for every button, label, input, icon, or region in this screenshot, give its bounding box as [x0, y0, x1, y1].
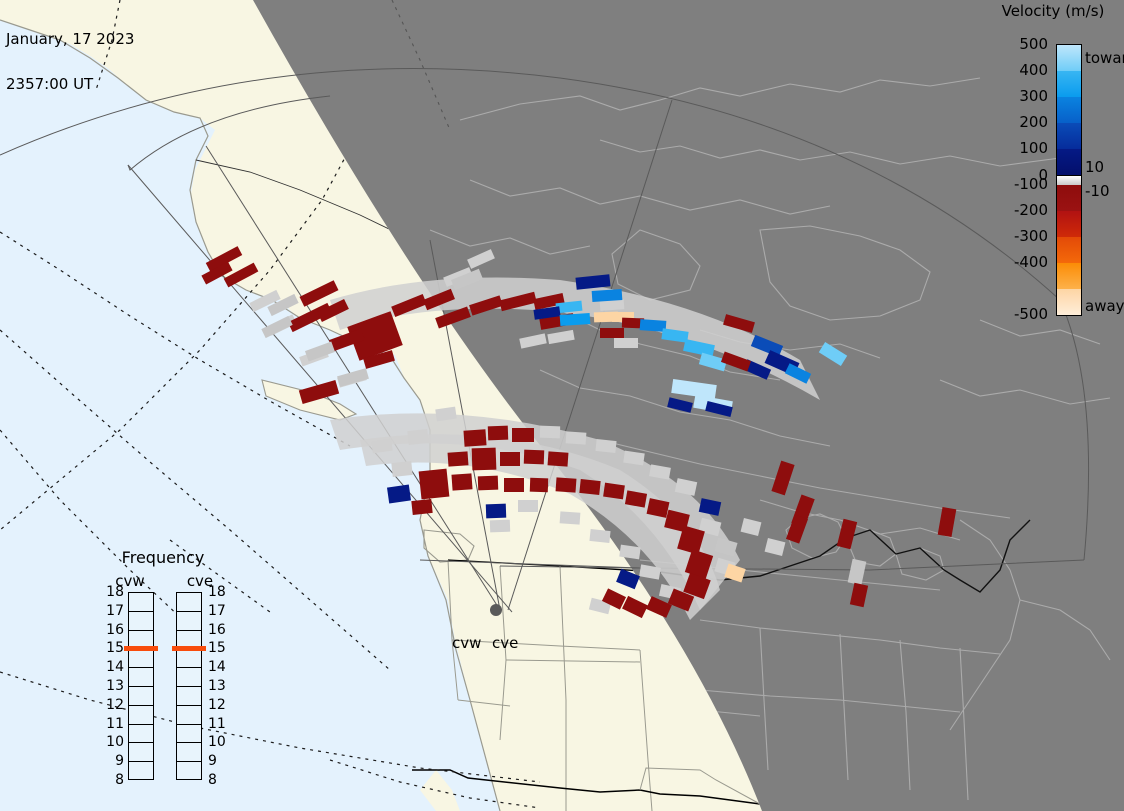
velocity-cell	[592, 289, 623, 302]
ground-scatter-cell	[566, 431, 587, 444]
station-label-cve: cve	[492, 634, 518, 652]
colorbar-title: Velocity (m/s)	[982, 2, 1124, 20]
frequency-marker-cve	[172, 646, 206, 651]
frequency-segment	[129, 649, 153, 668]
colorbar-positive-threshold-label: 10	[1085, 158, 1104, 176]
frequency-segment	[129, 743, 153, 762]
colorbar-tick-200: 200	[1019, 113, 1048, 131]
velocity-cell	[478, 476, 498, 491]
frequency-segment	[177, 668, 201, 687]
colorbar-tick-500: 500	[1019, 35, 1048, 53]
colorbar-tick-labels: 5004003002001000-100-200-300-400-500	[982, 44, 1052, 316]
colorbar-band-9	[1057, 263, 1081, 290]
frequency-tick-cvw-17: 17	[106, 603, 124, 619]
colorbar-band-6	[1057, 185, 1081, 212]
velocity-cell	[500, 452, 520, 466]
frequency-tick-cve-12: 12	[208, 697, 226, 713]
frequency-segment	[129, 687, 153, 706]
velocity-cell	[771, 461, 794, 496]
velocity-cell	[387, 485, 411, 504]
frequency-tick-cvw-14: 14	[106, 659, 124, 675]
velocity-cell	[560, 313, 591, 326]
colorbar-toward-label: toward	[1085, 49, 1124, 67]
velocity-cell	[530, 478, 548, 493]
frequency-tick-labels-cve: 18171615141312111098	[206, 592, 234, 780]
station-label-cvw: cvw	[452, 634, 481, 652]
velocity-cell	[640, 319, 667, 332]
velocity-cell	[579, 479, 600, 495]
frequency-tick-cve-13: 13	[208, 678, 226, 694]
colorbar-band-0	[1057, 45, 1081, 72]
velocity-colorbar: Velocity (m/s) 5004003002001000-100-200-…	[982, 0, 1124, 340]
frequency-tick-cvw-15: 15	[106, 640, 124, 656]
frequency-segment	[177, 725, 201, 744]
velocity-cell	[819, 342, 847, 366]
frequency-segment	[177, 687, 201, 706]
velocity-cell	[337, 368, 369, 387]
velocity-cell	[603, 483, 625, 500]
colorbar-tick-100: 100	[1019, 139, 1048, 157]
frequency-panel: Frequency cvw18171615141312111098cve1817…	[88, 548, 238, 788]
velocity-cell	[524, 450, 544, 465]
frequency-tick-cvw-9: 9	[115, 753, 124, 769]
velocity-cell	[451, 473, 472, 490]
colorbar-band-10	[1057, 289, 1081, 316]
velocity-cell	[463, 429, 486, 446]
frequency-segment	[129, 706, 153, 725]
frequency-segment	[177, 649, 201, 668]
frequency-tick-cve-10: 10	[208, 734, 226, 750]
velocity-cell	[575, 274, 610, 289]
colorbar-tick--100: -100	[1014, 175, 1048, 193]
colorbar-band-7	[1057, 211, 1081, 238]
velocity-cell	[512, 428, 534, 442]
velocity-cell	[472, 448, 497, 471]
velocity-cell	[850, 583, 868, 607]
ground-scatter-cell	[547, 330, 574, 344]
date-label: January, 17 2023	[6, 32, 134, 47]
colorbar-tick-300: 300	[1019, 87, 1048, 105]
ground-scatter-cell	[741, 518, 762, 536]
velocity-cell	[646, 596, 672, 618]
colorbar-gradient	[1056, 44, 1082, 316]
colorbar-band-5	[1057, 176, 1081, 185]
colorbar-tick--400: -400	[1014, 253, 1048, 271]
frequency-tick-cve-16: 16	[208, 622, 226, 638]
frequency-tick-cve-9: 9	[208, 753, 217, 769]
ground-scatter-cell	[518, 500, 538, 512]
ground-scatter-cell	[560, 511, 581, 524]
colorbar-tick--300: -300	[1014, 227, 1048, 245]
time-label: 2357:00 UT	[6, 77, 134, 92]
frequency-scale-box-cvw	[128, 592, 154, 780]
velocity-cell	[448, 451, 469, 466]
frequency-marker-cvw	[124, 646, 158, 651]
frequency-scale-box-cve	[176, 592, 202, 780]
colorbar-side-labels: toward10-10away	[1085, 44, 1124, 324]
velocity-cell	[837, 519, 857, 550]
frequency-tick-labels-cvw: 18171615141312111098	[98, 592, 126, 780]
frequency-tick-cve-15: 15	[208, 640, 226, 656]
frequency-segment	[177, 762, 201, 781]
frequency-tick-cve-17: 17	[208, 603, 226, 619]
frequency-tick-cve-14: 14	[208, 659, 226, 675]
frequency-title: Frequency	[88, 548, 238, 567]
ground-scatter-cell	[595, 439, 616, 453]
colorbar-band-1	[1057, 71, 1081, 98]
timestamp-block: January, 17 2023 2357:00 UT	[6, 2, 134, 122]
frequency-segment	[129, 762, 153, 781]
map-canvas: January, 17 2023 2357:00 UT Velocity (m/…	[0, 0, 1124, 811]
frequency-tick-cvw-13: 13	[106, 678, 124, 694]
velocity-cell	[667, 397, 693, 413]
frequency-segment	[177, 593, 201, 612]
velocity-cell	[261, 316, 292, 338]
frequency-segment	[177, 706, 201, 725]
ground-scatter-region	[330, 278, 820, 401]
velocity-cell	[671, 379, 717, 399]
frequency-tick-cvw-11: 11	[106, 716, 124, 732]
frequency-segment	[129, 593, 153, 612]
colorbar-band-8	[1057, 237, 1081, 264]
frequency-tick-cve-11: 11	[208, 716, 226, 732]
frequency-tick-cvw-8: 8	[115, 772, 124, 788]
ground-scatter-cell	[391, 461, 412, 477]
frequency-segment	[129, 725, 153, 744]
ground-scatter-cell	[589, 529, 610, 543]
velocity-cell	[411, 499, 432, 515]
frequency-segment	[129, 612, 153, 631]
ground-scatter-cell	[407, 429, 428, 445]
velocity-cell	[488, 426, 508, 441]
ground-scatter-cell	[619, 545, 640, 560]
colorbar-tick--500: -500	[1014, 305, 1048, 323]
ground-scatter-cell	[614, 338, 638, 348]
velocity-cell	[419, 469, 450, 500]
colorbar-negative-threshold-label: -10	[1085, 182, 1110, 200]
frequency-segment	[177, 743, 201, 762]
ground-scatter-cell	[540, 426, 560, 439]
velocity-cell	[616, 569, 640, 589]
ground-scatter-cell	[490, 520, 510, 533]
velocity-cell	[556, 477, 577, 492]
velocity-cell	[486, 504, 506, 519]
colorbar-tick--200: -200	[1014, 201, 1048, 219]
frequency-tick-cvw-18: 18	[106, 584, 124, 600]
velocity-cell	[622, 596, 648, 618]
frequency-tick-cvw-10: 10	[106, 734, 124, 750]
velocity-cell	[299, 380, 339, 404]
ground-scatter-cell	[467, 249, 495, 269]
frequency-tick-cve-8: 8	[208, 772, 217, 788]
colorbar-band-4	[1057, 149, 1081, 176]
ground-scatter-cell	[765, 538, 786, 556]
colorbar-tick-400: 400	[1019, 61, 1048, 79]
velocity-cell	[786, 514, 808, 543]
frequency-tick-cve-18: 18	[208, 584, 226, 600]
colorbar-away-label: away	[1085, 297, 1124, 315]
velocity-cell	[938, 507, 957, 537]
velocity-cell	[600, 328, 624, 338]
frequency-segment	[129, 668, 153, 687]
frequency-tick-cvw-12: 12	[106, 697, 124, 713]
velocity-cell	[848, 559, 867, 585]
colorbar-band-3	[1057, 123, 1081, 150]
ground-scatter-cell	[519, 333, 547, 348]
velocity-cell	[548, 451, 569, 466]
colorbar-band-2	[1057, 97, 1081, 124]
frequency-segment	[177, 612, 201, 631]
velocity-cell	[504, 478, 524, 492]
frequency-tick-cvw-16: 16	[106, 622, 124, 638]
